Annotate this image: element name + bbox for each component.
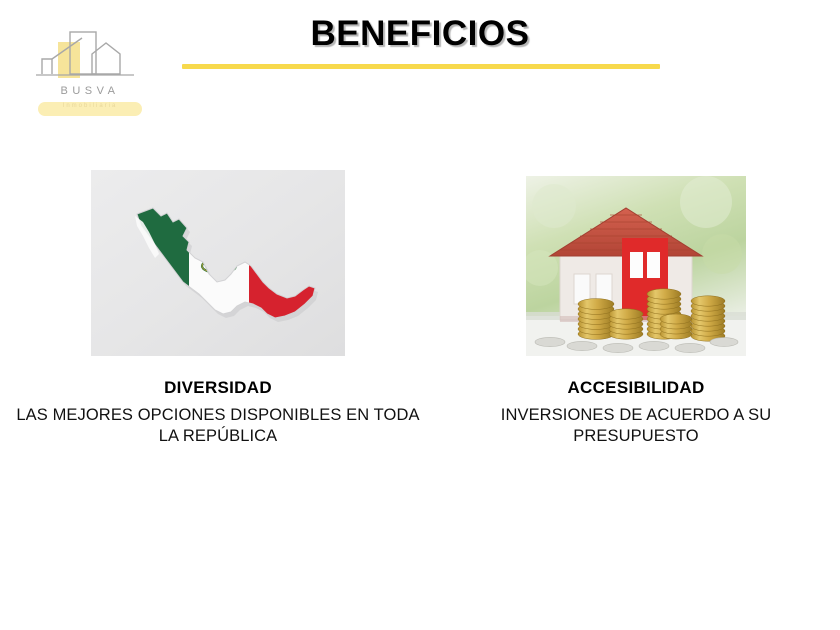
slide-title: BENEFICIOS [0, 14, 840, 54]
logo-tagline: Inmobiliaria [38, 103, 142, 109]
benefit-heading: DIVERSIDAD [8, 378, 428, 398]
mexico-map-flag-image [91, 170, 345, 356]
benefit-heading: ACCESIBILIDAD [440, 378, 832, 398]
benefit-caption-diversidad: DIVERSIDAD LAS MEJORES OPCIONES DISPONIB… [8, 378, 428, 447]
house-coins-image [526, 176, 746, 356]
benefit-caption-accesibilidad: ACCESIBILIDAD INVERSIONES DE ACUERDO A S… [440, 378, 832, 447]
benefit-column-accesibilidad: ACCESIBILIDAD INVERSIONES DE ACUERDO A S… [440, 170, 832, 447]
title-underline-rule [182, 64, 660, 69]
benefit-body: INVERSIONES DE ACUERDO A SU PRESUPUESTO [440, 405, 832, 447]
logo-wordmark: BUSVA [30, 85, 150, 97]
benefit-column-diversidad: DIVERSIDAD LAS MEJORES OPCIONES DISPONIB… [8, 170, 428, 447]
benefit-body: LAS MEJORES OPCIONES DISPONIBLES EN TODA… [8, 405, 428, 447]
logo-tagline-highlight: Inmobiliaria [38, 102, 142, 116]
